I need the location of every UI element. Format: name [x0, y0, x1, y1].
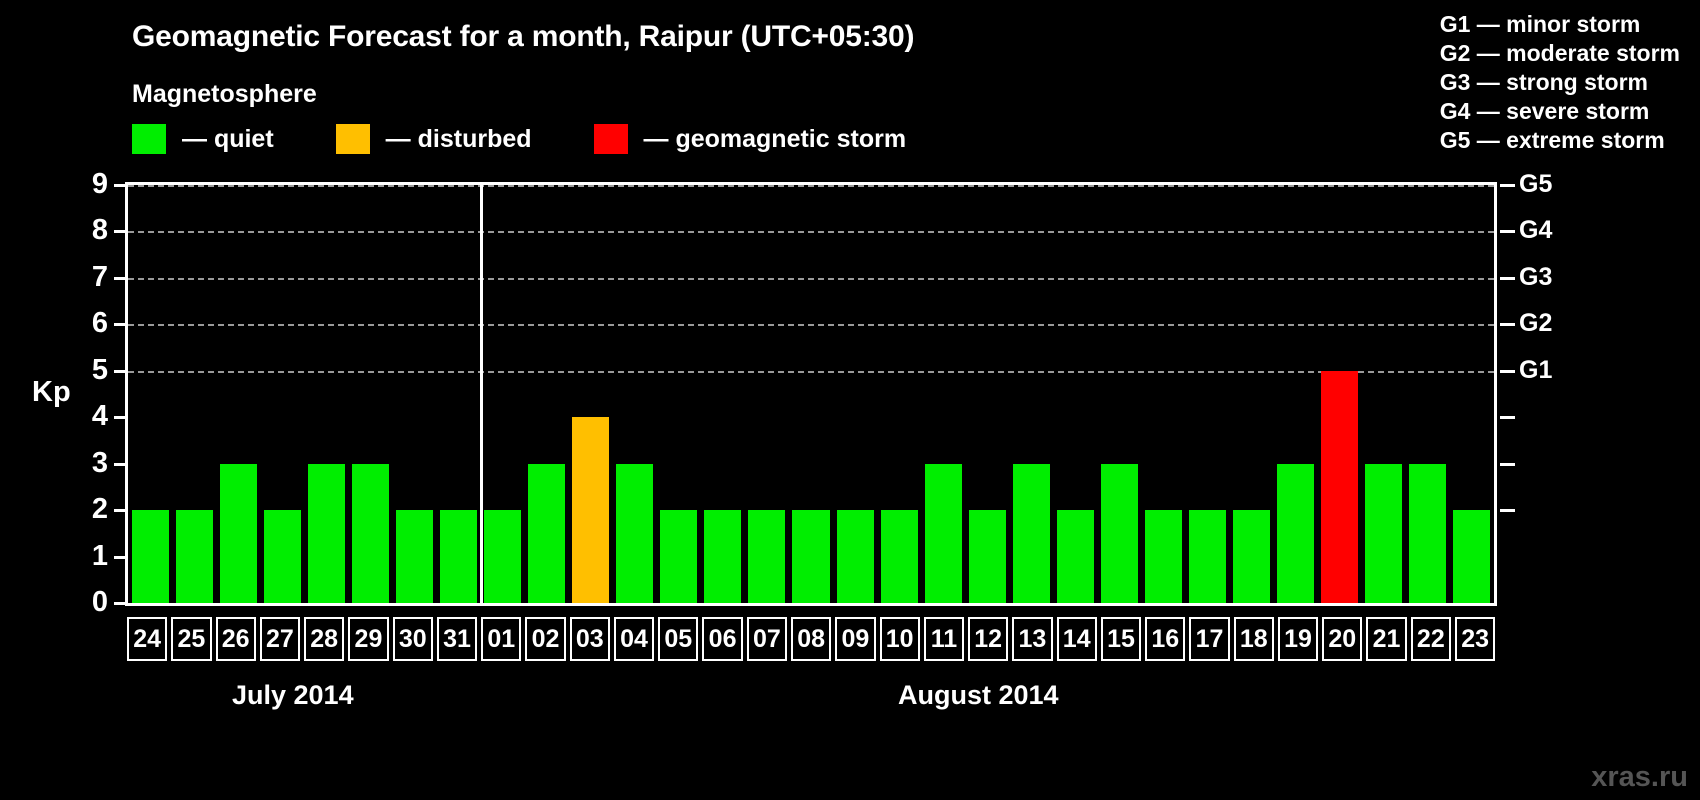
legend-heading: Magnetosphere: [132, 80, 317, 109]
bar-series: [128, 185, 1494, 603]
bar-cell[interactable]: [525, 185, 569, 603]
day-label[interactable]: 28: [304, 617, 344, 661]
bar[interactable]: [925, 464, 962, 603]
bar[interactable]: [528, 464, 565, 603]
bar-cell[interactable]: [833, 185, 877, 603]
bar-cell[interactable]: [1318, 185, 1362, 603]
g-axis-minor-tick: [1500, 416, 1515, 419]
g-scale-line: G3 — strong storm: [1440, 68, 1680, 97]
bar[interactable]: [176, 510, 213, 603]
y-axis-tick-label: 9: [72, 170, 108, 199]
bar[interactable]: [1277, 464, 1314, 603]
y-axis-title: Kp: [32, 376, 71, 409]
day-label[interactable]: 13: [1012, 617, 1052, 661]
bar-cell[interactable]: [1053, 185, 1097, 603]
day-label[interactable]: 18: [1234, 617, 1274, 661]
y-axis-tick-label: 4: [72, 402, 108, 431]
g-axis-tick-label: G2: [1519, 311, 1579, 336]
day-label[interactable]: 25: [171, 617, 211, 661]
bar-cell[interactable]: [481, 185, 525, 603]
legend: — quiet — disturbed — geomagnetic storm: [132, 124, 906, 154]
y-axis-tick-label: 2: [72, 495, 108, 524]
y-axis-tick-label: 5: [72, 356, 108, 385]
bar-cell[interactable]: [701, 185, 745, 603]
g-axis-tick: [1500, 230, 1515, 233]
bar[interactable]: [660, 510, 697, 603]
bar[interactable]: [1453, 510, 1490, 603]
g-axis-tick: [1500, 184, 1515, 187]
bar[interactable]: [969, 510, 1006, 603]
bar-cell[interactable]: [789, 185, 833, 603]
bar-cell[interactable]: [1186, 185, 1230, 603]
day-label[interactable]: 20: [1322, 617, 1362, 661]
x-axis-day-labels: 2425262728293031010203040506070809101112…: [125, 617, 1497, 661]
g-scale-line: G2 — moderate storm: [1440, 39, 1680, 68]
bar[interactable]: [396, 510, 433, 603]
bar-cell[interactable]: [613, 185, 657, 603]
bar[interactable]: [837, 510, 874, 603]
bar[interactable]: [1365, 464, 1402, 603]
day-label[interactable]: 22: [1411, 617, 1451, 661]
bar-cell[interactable]: [260, 185, 304, 603]
day-label[interactable]: 24: [127, 617, 167, 661]
bar-cell[interactable]: [745, 185, 789, 603]
bar-cell[interactable]: [436, 185, 480, 603]
day-label[interactable]: 08: [791, 617, 831, 661]
g-scale-legend: G1 — minor storm G2 — moderate storm G3 …: [1440, 10, 1680, 155]
bar[interactable]: [484, 510, 521, 603]
bar-cell[interactable]: [1406, 185, 1450, 603]
day-label[interactable]: 06: [702, 617, 742, 661]
day-label[interactable]: 05: [658, 617, 698, 661]
day-label[interactable]: 10: [880, 617, 920, 661]
bar[interactable]: [132, 510, 169, 603]
bar-cell[interactable]: [1097, 185, 1141, 603]
day-label[interactable]: 11: [924, 617, 964, 661]
y-axis-tick-label: 0: [72, 588, 108, 617]
day-label[interactable]: 01: [481, 617, 521, 661]
bar[interactable]: [1321, 371, 1358, 603]
bar[interactable]: [748, 510, 785, 603]
page-title: Geomagnetic Forecast for a month, Raipur…: [132, 20, 914, 54]
bar[interactable]: [1233, 510, 1270, 603]
legend-swatch-quiet: [132, 124, 166, 154]
month-divider: [480, 185, 483, 603]
bar[interactable]: [881, 510, 918, 603]
day-label[interactable]: 15: [1101, 617, 1141, 661]
bar-cell[interactable]: [1230, 185, 1274, 603]
y-axis-tick-label: 8: [72, 216, 108, 245]
bar-cell[interactable]: [877, 185, 921, 603]
bar-cell[interactable]: [1009, 185, 1053, 603]
g-axis-tick-label: G3: [1519, 265, 1579, 290]
bar-cell[interactable]: [1450, 185, 1494, 603]
g-axis-tick: [1500, 323, 1515, 326]
bar-cell[interactable]: [392, 185, 436, 603]
legend-item-storm: — geomagnetic storm: [594, 124, 907, 154]
g-axis-tick: [1500, 370, 1515, 373]
bar[interactable]: [572, 417, 609, 603]
bar-cell[interactable]: [569, 185, 613, 603]
bar[interactable]: [220, 464, 257, 603]
day-label[interactable]: 02: [525, 617, 565, 661]
bar[interactable]: [308, 464, 345, 603]
bar[interactable]: [1189, 510, 1226, 603]
y-axis-tick-label: 6: [72, 309, 108, 338]
day-label[interactable]: 23: [1455, 617, 1495, 661]
y-axis-tick-label: 7: [72, 263, 108, 292]
day-label[interactable]: 30: [393, 617, 433, 661]
bar[interactable]: [264, 510, 301, 603]
g-axis-tick: [1500, 277, 1515, 280]
g-axis-tick-label: G5: [1519, 172, 1579, 197]
day-label[interactable]: 04: [614, 617, 654, 661]
legend-label-storm: — geomagnetic storm: [644, 125, 907, 154]
month-label-right: August 2014: [898, 680, 1059, 711]
day-label[interactable]: 14: [1057, 617, 1097, 661]
y-axis-tick-label: 1: [72, 542, 108, 571]
bar[interactable]: [704, 510, 741, 603]
day-label[interactable]: 19: [1278, 617, 1318, 661]
bar-cell[interactable]: [348, 185, 392, 603]
bar-cell[interactable]: [304, 185, 348, 603]
legend-swatch-disturbed: [336, 124, 370, 154]
y-axis-tick-label: 3: [72, 449, 108, 478]
bar-cell[interactable]: [921, 185, 965, 603]
bar-cell[interactable]: [128, 185, 172, 603]
day-label[interactable]: 26: [216, 617, 256, 661]
g-axis-minor-tick: [1500, 463, 1515, 466]
watermark: xras.ru: [1591, 761, 1688, 794]
bar[interactable]: [1409, 464, 1446, 603]
day-label[interactable]: 27: [260, 617, 300, 661]
bar[interactable]: [616, 464, 653, 603]
day-label[interactable]: 17: [1189, 617, 1229, 661]
legend-swatch-storm: [594, 124, 628, 154]
g-scale-line: G5 — extreme storm: [1440, 126, 1680, 155]
legend-item-quiet: — quiet: [132, 124, 274, 154]
day-label[interactable]: 07: [747, 617, 787, 661]
bar[interactable]: [440, 510, 477, 603]
bar[interactable]: [1013, 464, 1050, 603]
bar-cell[interactable]: [657, 185, 701, 603]
bar[interactable]: [1057, 510, 1094, 603]
bar-cell[interactable]: [1141, 185, 1185, 603]
month-label-left: July 2014: [232, 680, 354, 711]
bar-cell[interactable]: [172, 185, 216, 603]
day-label[interactable]: 09: [835, 617, 875, 661]
day-label[interactable]: 31: [437, 617, 477, 661]
day-label[interactable]: 12: [968, 617, 1008, 661]
g-axis-tick-label: G1: [1519, 358, 1579, 383]
bar[interactable]: [352, 464, 389, 603]
g-axis-tick-label: G4: [1519, 218, 1579, 243]
bar[interactable]: [792, 510, 829, 603]
legend-label-quiet: — quiet: [182, 125, 274, 154]
legend-item-disturbed: — disturbed: [336, 124, 532, 154]
plot-area: [125, 182, 1497, 606]
day-label[interactable]: 29: [348, 617, 388, 661]
day-label[interactable]: 03: [570, 617, 610, 661]
day-label[interactable]: 21: [1366, 617, 1406, 661]
bar-cell[interactable]: [216, 185, 260, 603]
day-label[interactable]: 16: [1145, 617, 1185, 661]
g-scale-line: G4 — severe storm: [1440, 97, 1680, 126]
bar-cell[interactable]: [965, 185, 1009, 603]
bar-cell[interactable]: [1274, 185, 1318, 603]
legend-label-disturbed: — disturbed: [386, 125, 532, 154]
g-axis-minor-tick: [1500, 509, 1515, 512]
g-scale-line: G1 — minor storm: [1440, 10, 1680, 39]
bar[interactable]: [1145, 510, 1182, 603]
bar-cell[interactable]: [1362, 185, 1406, 603]
bar[interactable]: [1101, 464, 1138, 603]
